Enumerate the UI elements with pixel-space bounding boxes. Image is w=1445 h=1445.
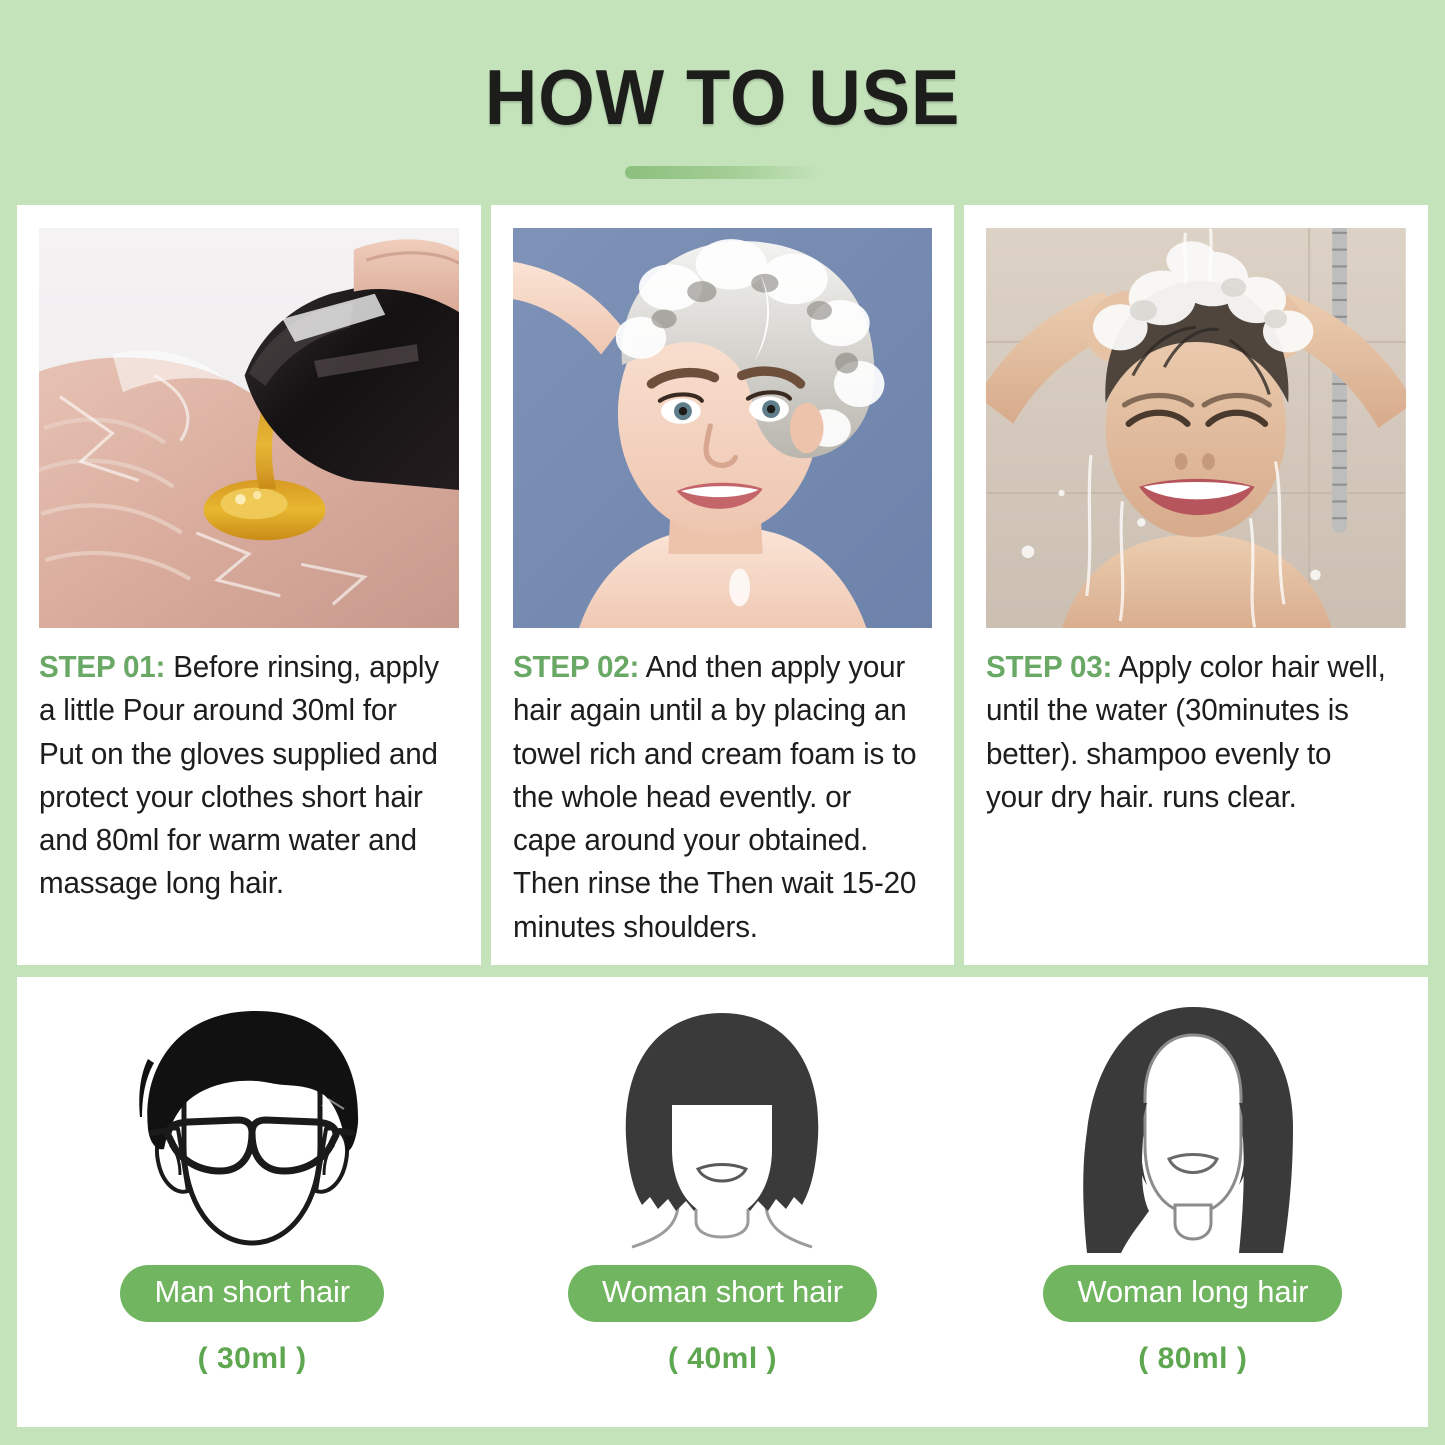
woman-short-hair-glyph (572, 999, 872, 1261)
page-title: HOW TO USE (485, 58, 960, 136)
step-card-1: STEP 01: Before rinsing, apply a little … (17, 205, 481, 965)
step-2-body: And then apply your hair again until a b… (513, 650, 916, 944)
bottle-pouring-onto-glove-illustration (39, 228, 459, 628)
step-1-photo (39, 228, 459, 628)
step-card-3: STEP 03: Apply color hair well, until th… (964, 205, 1428, 965)
woman-long-hair-glyph (1043, 999, 1343, 1261)
man-short-hair-icon (102, 999, 402, 1261)
step-3-text: STEP 03: Apply color hair well, until th… (986, 646, 1393, 819)
title-underline-accent (625, 166, 821, 179)
hair-type-woman-short: Woman short hair ( 40ml ) (487, 977, 957, 1427)
step-3-label: STEP 03: (986, 650, 1112, 684)
step-2-photo (513, 228, 933, 628)
step-3-photo (986, 228, 1406, 628)
hair-type-panel: Man short hair ( 30ml ) (17, 977, 1428, 1427)
how-to-use-infographic: HOW TO USE (0, 0, 1445, 1445)
hair-type-volume-man-short: ( 30ml ) (198, 1342, 307, 1376)
hair-type-label-woman-short: Woman short hair (568, 1265, 877, 1322)
woman-long-hair-icon (1043, 999, 1343, 1261)
step-1-label: STEP 01: (39, 650, 165, 684)
hair-type-volume-woman-short: ( 40ml ) (668, 1342, 777, 1376)
woman-with-foam-illustration (513, 228, 933, 628)
step-2-text: STEP 02: And then apply your hair again … (513, 646, 920, 949)
step-1-text: STEP 01: Before rinsing, apply a little … (39, 646, 446, 906)
hair-type-label-man-short: Man short hair (120, 1265, 383, 1322)
woman-rinsing-in-shower-illustration (986, 228, 1406, 628)
man-short-hair-glyph (102, 999, 402, 1261)
header: HOW TO USE (0, 0, 1445, 205)
step-1-body: Before rinsing, apply a little Pour arou… (39, 650, 439, 900)
hair-type-woman-long: Woman long hair ( 80ml ) (958, 977, 1428, 1427)
step-2-label: STEP 02: (513, 650, 639, 684)
hair-type-label-woman-long: Woman long hair (1043, 1265, 1342, 1322)
step-card-2: STEP 02: And then apply your hair again … (491, 205, 955, 965)
hair-type-volume-woman-long: ( 80ml ) (1138, 1342, 1247, 1376)
woman-short-hair-icon (572, 999, 872, 1261)
hair-type-man-short: Man short hair ( 30ml ) (17, 977, 487, 1427)
steps-row: STEP 01: Before rinsing, apply a little … (17, 205, 1428, 965)
